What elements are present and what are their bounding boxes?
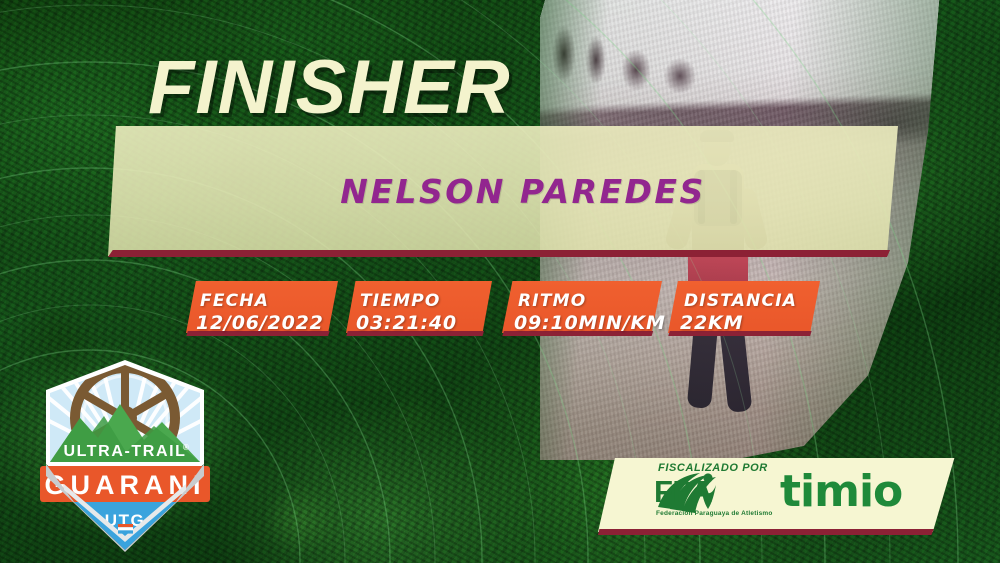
fpa-acronym: FPA bbox=[654, 476, 712, 507]
page-title: FINISHER bbox=[148, 44, 511, 131]
stat-label-distancia: DISTANCIA bbox=[684, 291, 797, 311]
stat-value-fecha: 12/06/2022 bbox=[196, 312, 324, 334]
paraguay-flag-icon bbox=[118, 524, 133, 534]
timio-logo: timio bbox=[780, 470, 902, 514]
stat-value-ritmo: 09:10MIN/KM bbox=[514, 312, 666, 334]
finisher-certificate-card: FINISHER NELSON PAREDES FECHA 12/06/2022… bbox=[0, 0, 1000, 563]
stat-label-fecha: FECHA bbox=[200, 291, 269, 311]
fpa-full-name: Federación Paraguaya de Atletismo bbox=[656, 510, 773, 517]
stat-value-distancia: 22KM bbox=[680, 312, 743, 334]
svg-text:®: ® bbox=[183, 443, 189, 452]
stats-row: FECHA 12/06/2022 TIEMPO 03:21:40 RITMO 0… bbox=[0, 281, 1000, 343]
event-logo-badge: ULTRA-TRAIL ® GUARANI UTG bbox=[34, 356, 216, 552]
stat-label-ritmo: RITMO bbox=[518, 291, 586, 311]
sponsor-panel-content: FISCALIZADO POR FPA timio bbox=[598, 458, 958, 532]
stat-label-tiempo: TIEMPO bbox=[360, 291, 441, 311]
logo-ultra-trail-text: ULTRA-TRAIL bbox=[63, 443, 186, 460]
stat-value-tiempo: 03:21:40 bbox=[356, 312, 457, 334]
athlete-name: NELSON PAREDES bbox=[108, 126, 898, 256]
